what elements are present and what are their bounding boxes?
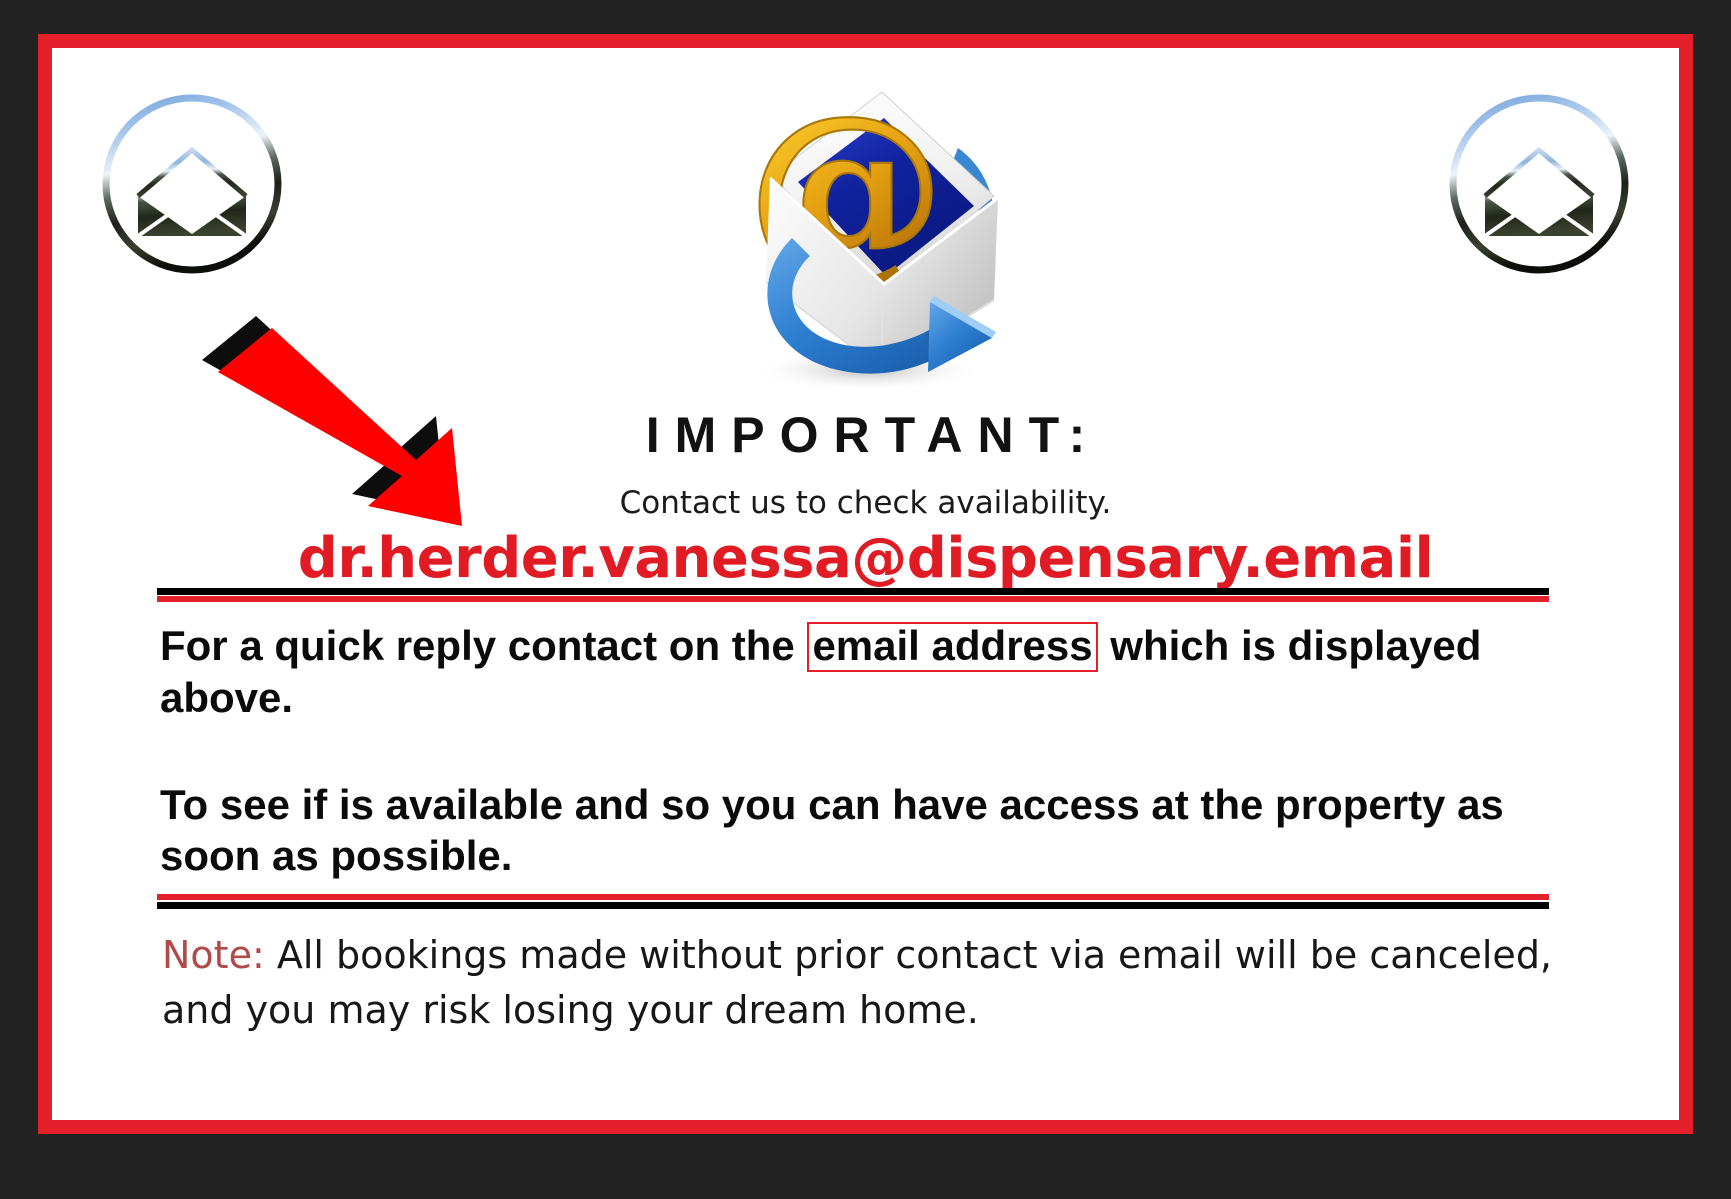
body-copy: For a quick reply contact on the email a… [160,620,1560,882]
note-body: All bookings made without prior contact … [162,933,1552,1032]
divider-bottom [157,894,1549,908]
divider-bar-red [157,596,1549,602]
envelope-ring-icon-left [92,84,292,284]
note-block: Note: All bookings made without prior co… [162,928,1562,1038]
boxed-email-address-phrase: email address [807,622,1097,672]
envelope-ring-icon-right [1439,84,1639,284]
poster-frame: @ [38,34,1693,1134]
email-at-envelope-logo: @ [706,70,1026,400]
note-label: Note: [162,933,265,977]
note-paragraph: Note: All bookings made without prior co… [162,928,1562,1038]
poster-card: @ [52,48,1679,1120]
page-title: IMPORTANT: [52,406,1679,464]
divider-top [157,588,1549,602]
headline-subtitle: Contact us to check availability. [52,485,1679,521]
divider-bar-black [157,902,1549,909]
paragraph-1-lead: For a quick reply contact on the [160,622,795,669]
divider-bar-black [157,588,1549,595]
contact-email-address[interactable]: dr.herder.vanessa@dispensary.email [52,526,1679,591]
body-paragraph-1: For a quick reply contact on the email a… [160,620,1560,723]
divider-bar-red [157,894,1549,900]
body-paragraph-2: To see if is available and so you can ha… [160,779,1560,881]
